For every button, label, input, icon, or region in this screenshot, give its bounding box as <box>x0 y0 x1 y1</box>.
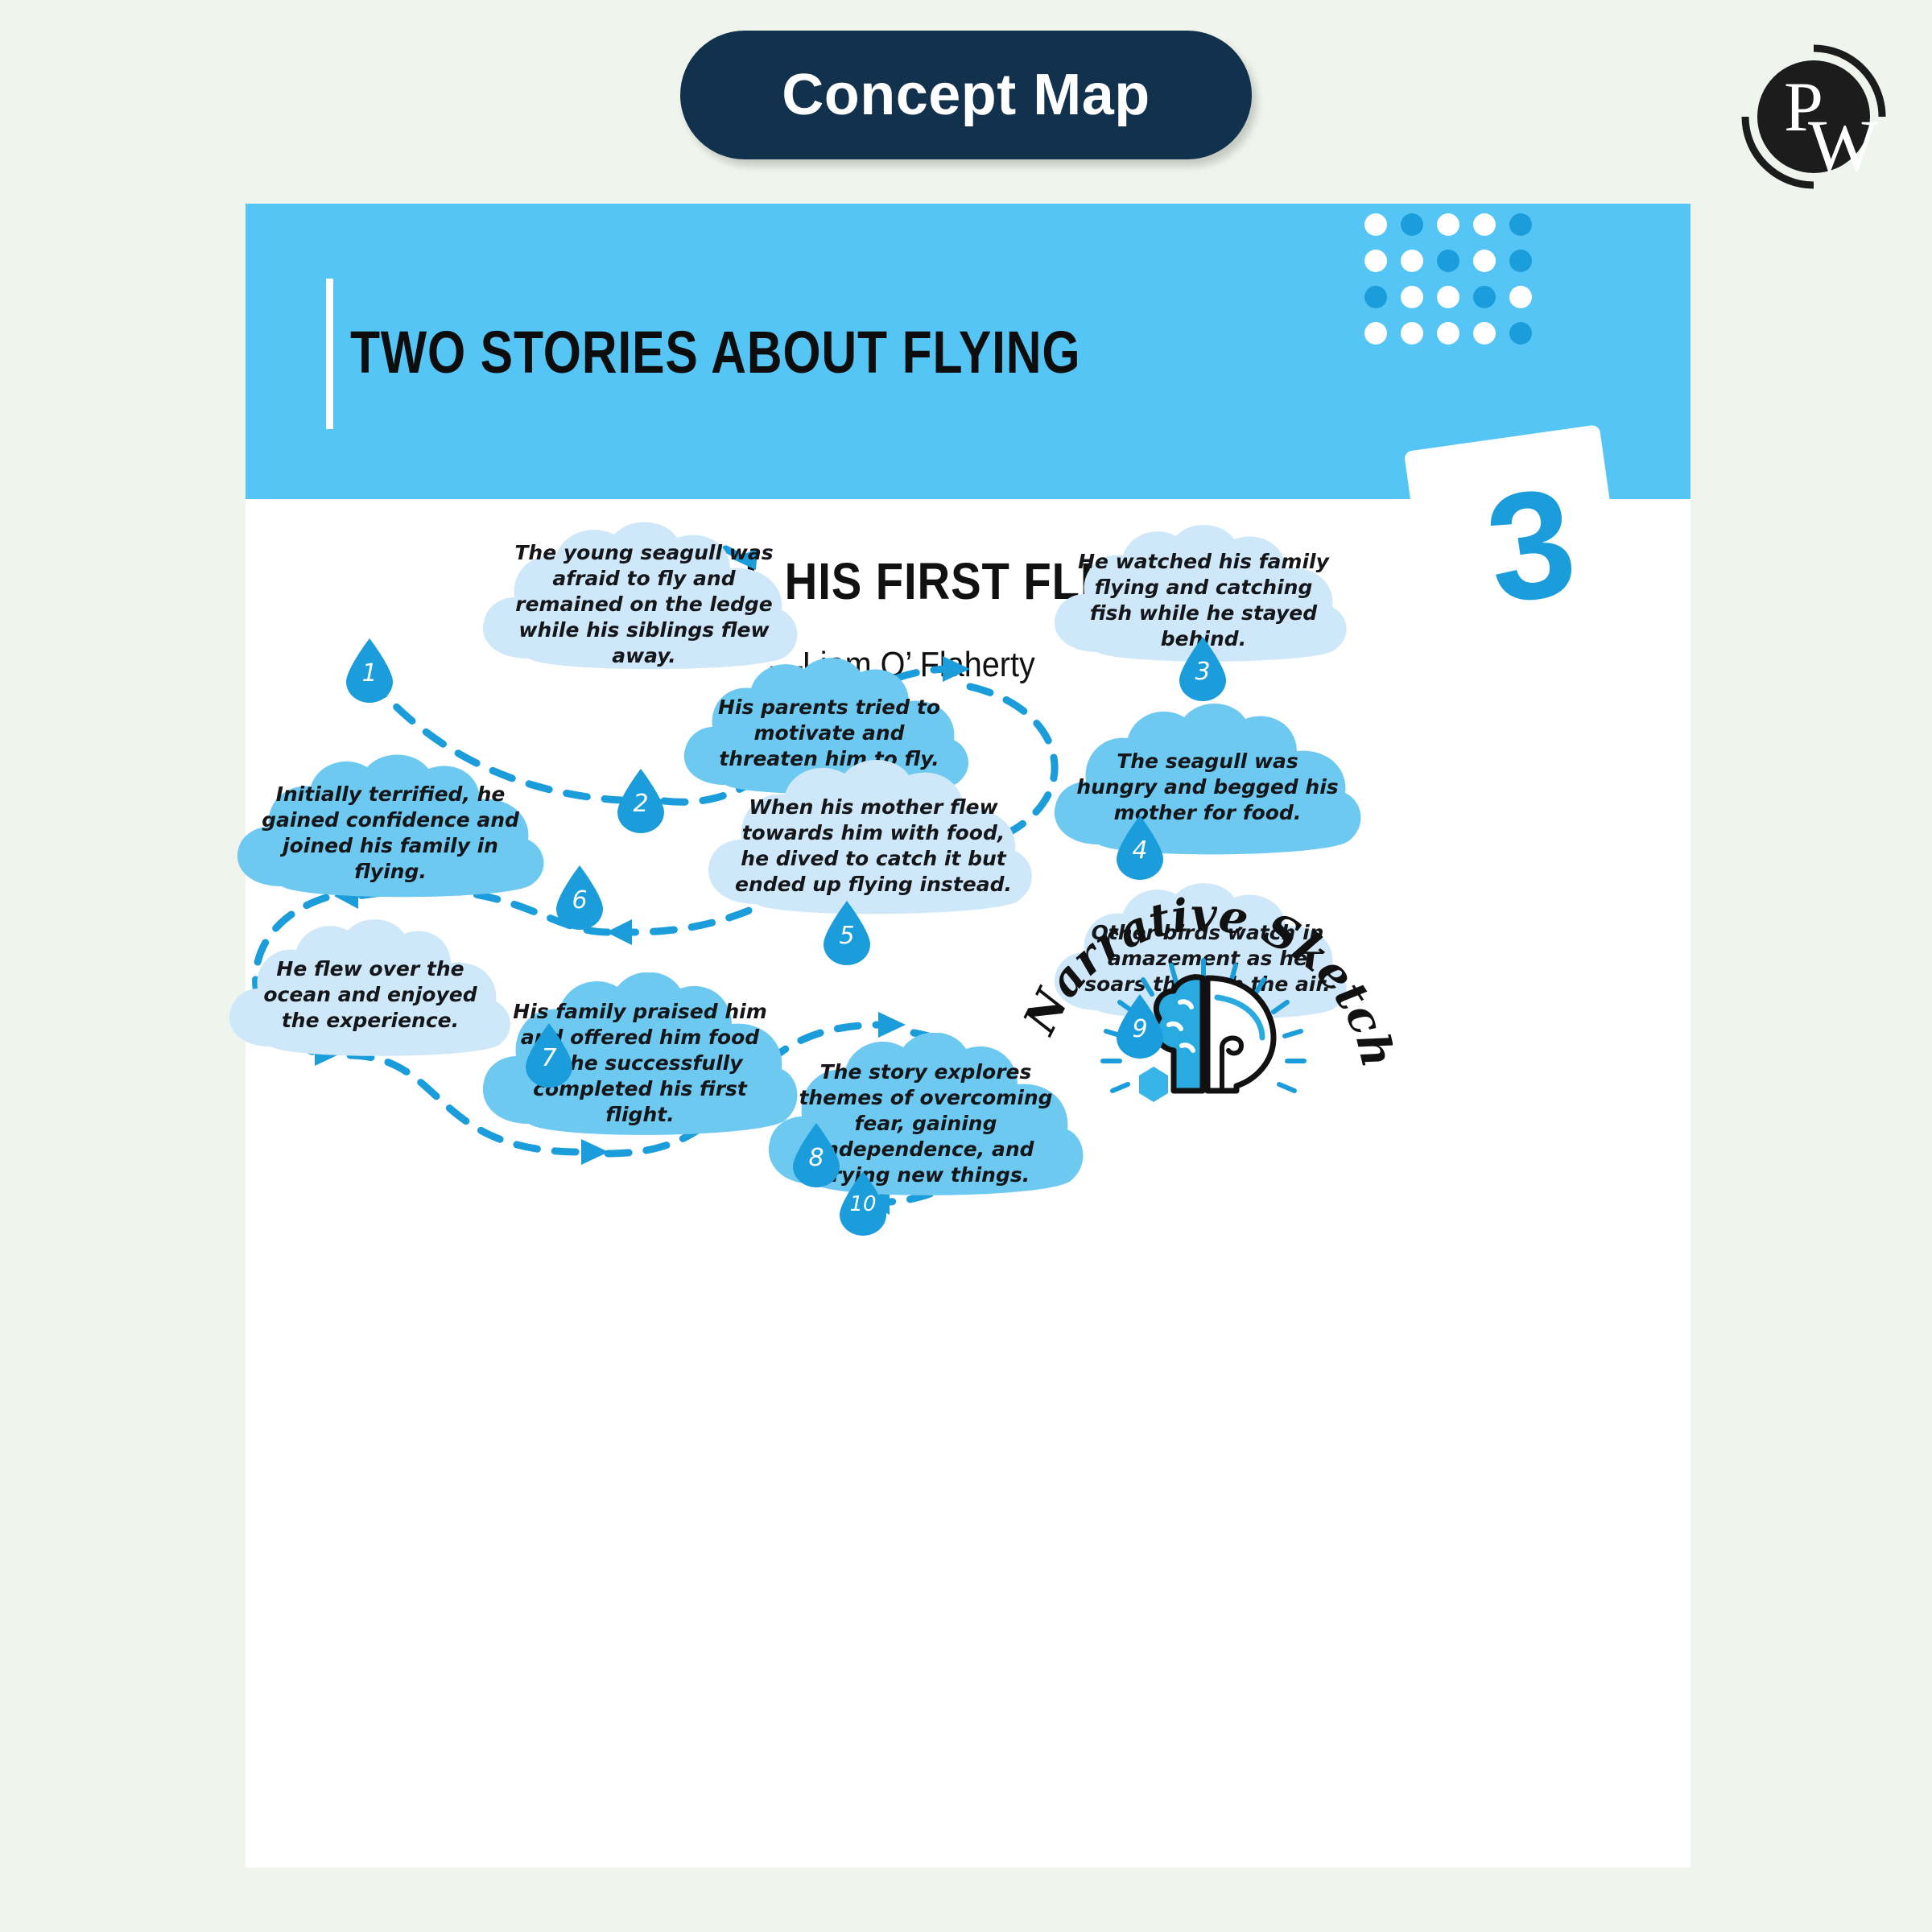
marker-8-label: 8 <box>793 1144 840 1172</box>
pw-logo-icon: P W <box>1737 40 1890 193</box>
marker-1[interactable]: 1 <box>346 638 393 703</box>
marker-2[interactable]: 2 <box>617 769 664 833</box>
concept-node-5[interactable]: When his mother flew towards him with fo… <box>704 759 1042 932</box>
brain-bulb-icon <box>1155 977 1274 1092</box>
poster-sheet: TWO STORIES ABOUT FLYING 3 I. HIS FIRST … <box>246 204 1690 1868</box>
concept-map-badge: Concept Map <box>680 31 1252 159</box>
pw-logo: P W <box>1737 40 1890 193</box>
marker-3-label: 3 <box>1179 658 1226 686</box>
concept-map-label: Concept Map <box>782 62 1150 128</box>
concept-node-5-text: When his mother flew towards him with fo… <box>704 795 1042 898</box>
narrative-sketch-icon: Narrative Sketch <box>1014 864 1393 1129</box>
marker-7-label: 7 <box>526 1044 572 1072</box>
marker-5-label: 5 <box>824 922 870 950</box>
concept-node-6-text: Initially terrified, he gained confidenc… <box>233 782 547 885</box>
marker-6-label: 6 <box>556 886 603 914</box>
marker-10[interactable]: 10 <box>840 1171 886 1236</box>
svg-text:W: W <box>1808 105 1878 187</box>
concept-node-4-text: The seagull was hungry and begged his mo… <box>1051 749 1364 826</box>
marker-4[interactable]: 4 <box>1117 815 1163 880</box>
marker-9-label: 9 <box>1117 1015 1163 1043</box>
concept-node-7[interactable]: He flew over the ocean and enjoyed the e… <box>225 916 515 1073</box>
hexagon-connector-icon <box>1137 1067 1170 1102</box>
marker-5[interactable]: 5 <box>824 901 870 965</box>
marker-8[interactable]: 8 <box>793 1123 840 1187</box>
marker-7[interactable]: 7 <box>526 1023 572 1088</box>
concept-node-7-text: He flew over the ocean and enjoyed the e… <box>225 956 515 1034</box>
marker-10-label: 10 <box>840 1192 886 1216</box>
marker-2-label: 2 <box>617 790 664 818</box>
marker-4-label: 4 <box>1117 836 1163 865</box>
concept-node-1-text: The young seagull was afraid to fly and … <box>479 540 809 669</box>
infographic-canvas: Concept Map P W TWO STORIES ABOUT FLYING… <box>0 0 1932 1932</box>
marker-6[interactable]: 6 <box>556 865 603 930</box>
marker-3[interactable]: 3 <box>1179 637 1226 701</box>
marker-1-label: 1 <box>346 659 393 687</box>
concept-node-6[interactable]: Initially terrified, he gained confidenc… <box>233 753 547 914</box>
concept-node-4[interactable]: The seagull was hungry and begged his mo… <box>1051 703 1364 872</box>
narrative-sketch-badge: Narrative Sketch <box>1014 864 1393 1129</box>
chapter-number: 3 <box>1435 443 1628 650</box>
marker-9[interactable]: 9 <box>1117 994 1163 1059</box>
